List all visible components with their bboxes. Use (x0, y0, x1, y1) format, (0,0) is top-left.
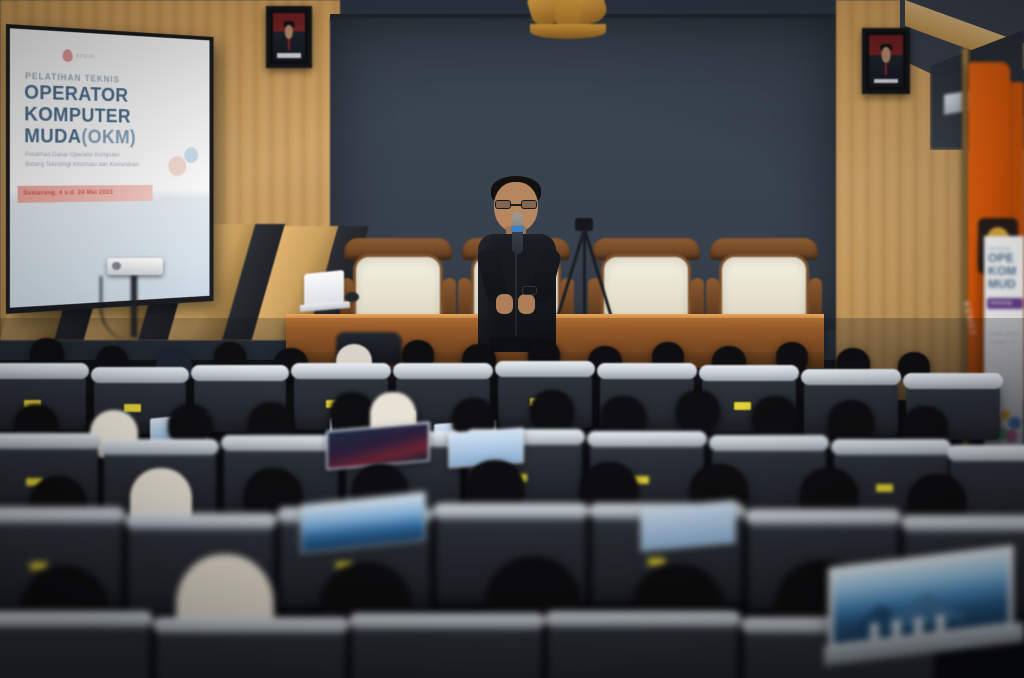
slide-heading-line-1: OPERATOR (24, 83, 128, 107)
stage-mouse (345, 292, 359, 302)
projector-lens-icon (112, 262, 121, 270)
emblem-tail (530, 24, 606, 39)
presidential-portrait (266, 6, 312, 68)
laptop-screen (642, 502, 734, 550)
tripod-leg (583, 229, 586, 321)
chair-seatback (719, 254, 809, 320)
garuda-pancasila-emblem (522, 0, 614, 46)
slide-heading-line-2: KOMPUTER (24, 105, 131, 128)
slide-date-text: Semarang, 4 s.d. 24 Mei 2023 (23, 189, 113, 197)
slide-subtitle-2: Bidang Teknologi Informasi dan Komunikas… (25, 160, 139, 169)
portrait-artwork (273, 13, 305, 61)
eyeglass-lens-right (521, 200, 537, 209)
slide-subtitle-1: Pelatihan Dasar Operator Komputer (25, 150, 119, 159)
stage-chair (344, 238, 452, 322)
chair-arm-right (443, 278, 456, 318)
presenter-hand-left (496, 294, 513, 314)
attendee-head (752, 396, 798, 440)
seat-number-label (734, 402, 751, 410)
stage-laptop (300, 272, 348, 314)
portrait-nameplate (874, 79, 899, 84)
eyeglass-bridge (511, 204, 521, 206)
auditorium-seat (0, 618, 150, 678)
microphone-indicator-ring (511, 226, 524, 232)
foreground-laptop (828, 556, 1024, 678)
portrait-artwork (869, 35, 903, 87)
chair-seatback (601, 254, 691, 320)
chair-arm-left (706, 278, 719, 318)
laptop-screen (328, 424, 428, 469)
portrait-face (285, 25, 293, 39)
auditorium-seat (548, 618, 738, 678)
seat-number-label (30, 562, 47, 570)
portrait-face (882, 47, 891, 63)
attendee-head (676, 390, 720, 432)
eyeglasses-icon (495, 200, 537, 209)
tripod-leg (583, 229, 613, 318)
banner-badge-text: Semarang (990, 300, 1012, 305)
seat-number-label (648, 558, 665, 566)
portrait-nameplate (277, 53, 300, 57)
attendee-head (530, 390, 574, 432)
portrait-tie (288, 39, 290, 50)
seat-number-label (876, 484, 893, 492)
slide-logo-text: BPSDM (76, 53, 93, 60)
banner-heading-3: MUD (988, 278, 1016, 291)
slide-logo: BPSDM (63, 49, 94, 63)
attendee-head (828, 400, 874, 444)
auditorium-photo-scene: BPSDM PELATIHAN TEKNIS OPERATOR KOMPUTER… (0, 0, 1024, 678)
wristwatch-icon (522, 286, 537, 295)
presenter-hand-right (518, 294, 535, 314)
stage-chair (710, 238, 818, 322)
auditorium-seat (352, 620, 542, 678)
chair-seatback (353, 254, 443, 320)
slide-decoration (167, 140, 202, 177)
slide-heading-suffix: (OKM) (81, 126, 136, 148)
slide-heading-word: MUDA (24, 125, 81, 147)
seat-number-label (124, 404, 141, 412)
attendee-laptop (640, 500, 736, 552)
portrait-tie (885, 64, 887, 75)
eyeglass-lens-left (495, 200, 511, 209)
auditorium-seat (156, 624, 346, 678)
slide-heading-line-3: MUDA(OKM) (24, 126, 136, 148)
slide-logo-mark-icon (63, 49, 73, 62)
wireless-microphone (512, 212, 523, 254)
chair-arm-right (691, 278, 704, 318)
chair-arm-right (809, 278, 822, 318)
vice-presidential-portrait (862, 28, 910, 94)
